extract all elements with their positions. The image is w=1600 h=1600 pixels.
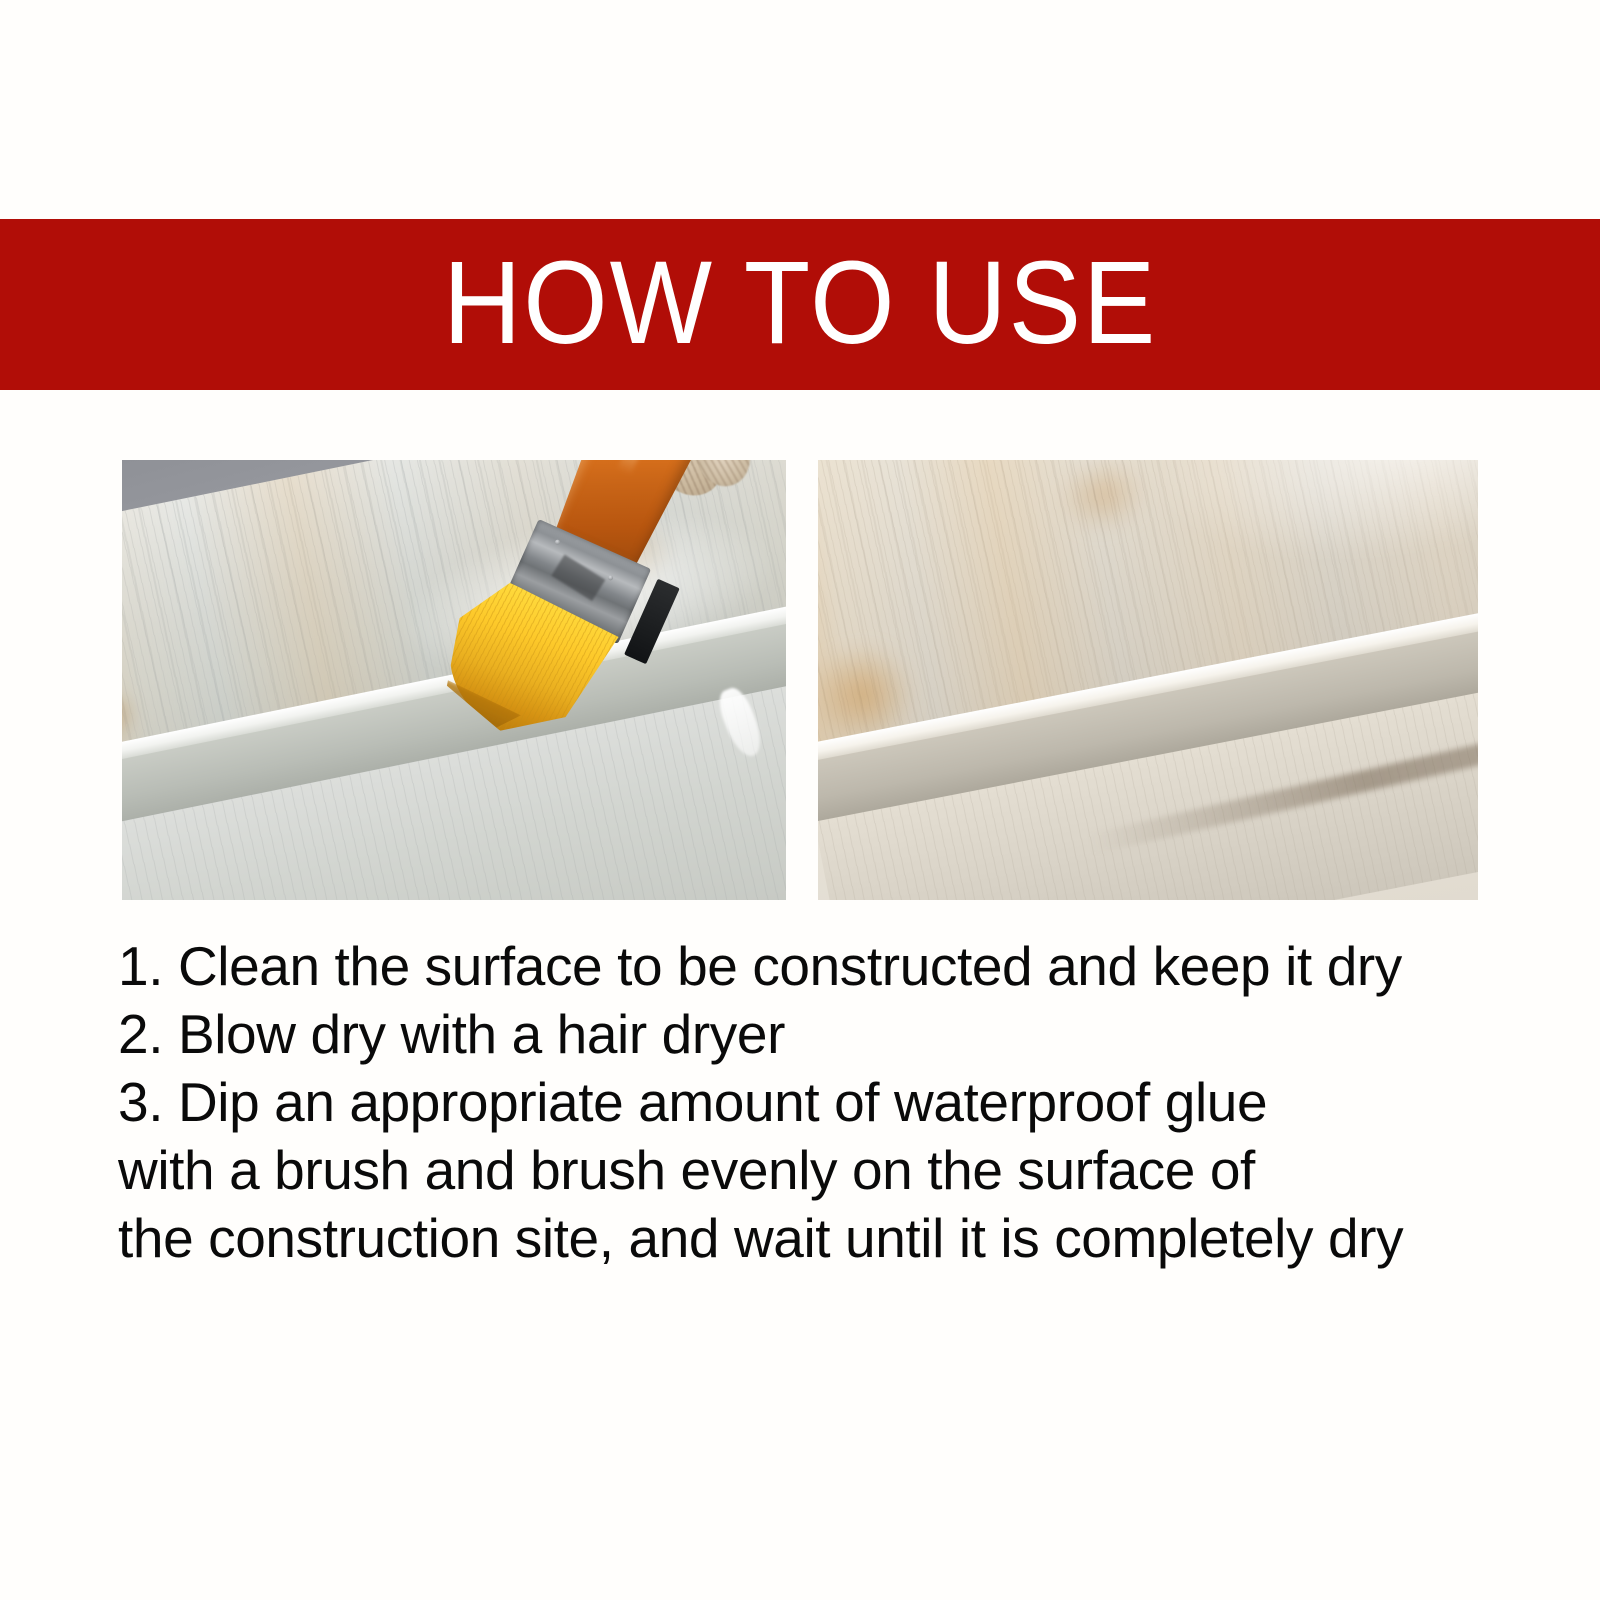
instruction-line: 3. Dip an appropriate amount of waterpro… [118,1068,1538,1136]
page-title: HOW TO USE [443,244,1157,362]
photo-left-canvas [122,460,786,900]
handle-highlight [617,460,653,475]
coated-plank-closeup-image [818,460,1478,900]
how-to-use-banner: HOW TO USE [0,219,1600,390]
instruction-line: with a brush and brush evenly on the sur… [118,1136,1538,1204]
instruction-steps: 1. Clean the surface to be constructed a… [118,932,1538,1272]
instruction-line: the construction site, and wait until it… [118,1204,1538,1272]
instruction-line: 2. Blow dry with a hair dryer [118,1000,1538,1068]
coated-wooden-plank [818,460,1478,900]
instruction-line: 1. Clean the surface to be constructed a… [118,932,1538,1000]
applying-glue-with-brush-image [122,460,786,900]
photo-right-canvas [818,460,1478,900]
image-gallery [122,460,1478,900]
